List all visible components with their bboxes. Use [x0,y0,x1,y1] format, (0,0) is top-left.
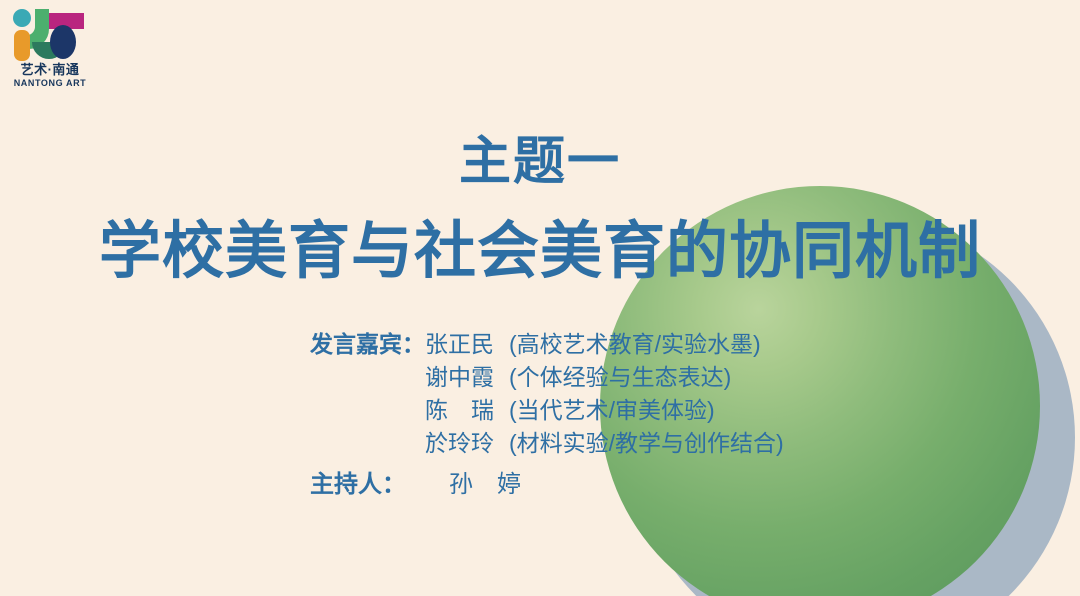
speaker-name: 谢中霞 [425,361,509,394]
logo-text-english: NANTONG ART [10,78,90,88]
speaker-row: 发言嘉宾： 张正民 (高校艺术教育/实验水墨) [310,328,950,361]
speaker-list: 发言嘉宾： 张正民 (高校艺术教育/实验水墨) 谢中霞 (个体经验与生态表达) … [310,328,950,460]
speaker-row: 於玲玲 (材料实验/教学与创作结合) [310,427,950,460]
logo-text-chinese: 艺术·南通 [10,62,90,77]
host-row: 主持人： 孙 婷 [310,468,910,502]
slide-canvas: 艺术·南通 NANTONG ART 主题一 学校美育与社会美育的协同机制 发言嘉… [0,0,1080,596]
speaker-row: 陈 瑞 (当代艺术/审美体验) [310,394,950,427]
speaker-topic: (高校艺术教育/实验水墨) [509,328,761,361]
nantong-art-logo: 艺术·南通 NANTONG ART [8,6,92,92]
logo-marks-icon [8,6,92,62]
speaker-topic: (当代艺术/审美体验) [509,394,715,427]
host-name: 孙 婷 [425,468,521,502]
speaker-topic: (个体经验与生态表达) [509,361,731,394]
speaker-name: 陈 瑞 [425,394,509,427]
speaker-name: 张正民 [425,328,509,361]
speaker-name: 於玲玲 [425,427,509,460]
slide-title-sub: 学校美育与社会美育的协同机制 [0,213,1080,291]
speakers-label: 发言嘉宾： [310,328,425,361]
host-label: 主持人： [310,468,425,502]
host-block: 主持人： 孙 婷 [310,468,910,502]
speaker-row: 谢中霞 (个体经验与生态表达) [310,361,950,394]
slide-title-main: 主题一 [0,132,1080,192]
speaker-topic: (材料实验/教学与创作结合) [509,427,784,460]
